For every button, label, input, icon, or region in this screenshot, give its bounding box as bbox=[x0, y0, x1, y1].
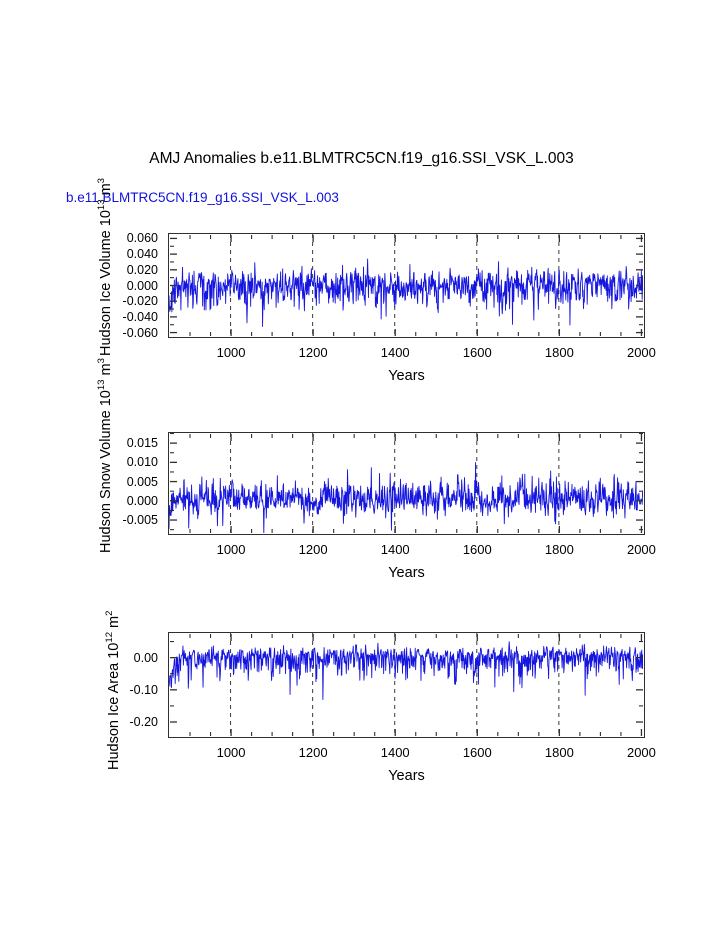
x-tick-label: 1800 bbox=[545, 746, 574, 759]
x-tick-label: 1800 bbox=[545, 346, 574, 359]
y-axis-title-ice-volume: Hudson Ice Volume 1013 m3 bbox=[96, 178, 114, 356]
x-tick-label: 1200 bbox=[299, 746, 328, 759]
y-tick-label: -0.20 bbox=[0, 716, 158, 729]
y-tick-label: -0.060 bbox=[0, 326, 158, 339]
y-axis-title-text: Hudson Ice Area 10 bbox=[106, 643, 122, 770]
plot-frame-snow-volume bbox=[168, 432, 645, 535]
y-axis-title-exponent: 13 bbox=[96, 199, 107, 210]
y-tick-label: 0.005 bbox=[0, 475, 158, 488]
x-axis-title-snow-volume: Years bbox=[168, 565, 645, 581]
y-tick-label: 0.020 bbox=[0, 264, 158, 277]
x-tick-label: 1600 bbox=[463, 746, 492, 759]
plot-frame-ice-area bbox=[168, 632, 645, 738]
plot-frame-ice-volume bbox=[168, 233, 645, 338]
y-tick-label: 0.060 bbox=[0, 232, 158, 245]
y-tick-label: -0.020 bbox=[0, 295, 158, 308]
x-tick-label: 1000 bbox=[217, 346, 246, 359]
y-axis-title-text: m bbox=[106, 616, 122, 632]
series-snow-volume bbox=[169, 433, 643, 533]
y-axis-title-exponent: 13 bbox=[96, 380, 107, 391]
y-axis-title-text: m bbox=[98, 183, 114, 199]
x-tick-label: 2000 bbox=[627, 543, 656, 556]
series-ice-area bbox=[169, 633, 643, 736]
x-tick-label: 1600 bbox=[463, 543, 492, 556]
y-tick-label: -0.005 bbox=[0, 514, 158, 527]
x-tick-label: 1000 bbox=[217, 746, 246, 759]
x-tick-label: 1400 bbox=[381, 543, 410, 556]
y-axis-title-exponent: 2 bbox=[104, 611, 115, 616]
y-axis-title-exponent: 3 bbox=[96, 358, 107, 363]
x-tick-label: 1200 bbox=[299, 543, 328, 556]
y-tick-label: 0.000 bbox=[0, 279, 158, 292]
y-tick-label: 0.000 bbox=[0, 495, 158, 508]
y-axis-title-snow-volume: Hudson Snow Volume 1013 m3 bbox=[96, 358, 114, 553]
x-tick-label: 1400 bbox=[381, 746, 410, 759]
y-tick-label: -0.040 bbox=[0, 311, 158, 324]
x-tick-label: 1400 bbox=[381, 346, 410, 359]
x-tick-label: 1200 bbox=[299, 346, 328, 359]
x-axis-title-ice-volume: Years bbox=[168, 368, 645, 384]
y-tick-label: 0.010 bbox=[0, 456, 158, 469]
y-axis-title-text: Hudson Ice Volume 10 bbox=[98, 210, 114, 356]
y-tick-label: 0.00 bbox=[0, 651, 158, 664]
series-ice-volume bbox=[169, 234, 643, 336]
page-title: AMJ Anomalies b.e11.BLMTRC5CN.f19_g16.SS… bbox=[0, 150, 723, 168]
y-tick-label: 0.015 bbox=[0, 437, 158, 450]
y-axis-title-ice-area: Hudson Ice Area 1012 m2 bbox=[104, 611, 122, 770]
x-tick-label: 1600 bbox=[463, 346, 492, 359]
y-axis-title-text: m bbox=[98, 363, 114, 379]
y-tick-label: 0.040 bbox=[0, 248, 158, 261]
x-tick-label: 1800 bbox=[545, 543, 574, 556]
x-tick-label: 1000 bbox=[217, 543, 246, 556]
y-axis-title-text: Hudson Snow Volume 10 bbox=[98, 390, 114, 553]
x-tick-label: 2000 bbox=[627, 346, 656, 359]
y-axis-title-exponent: 12 bbox=[104, 632, 115, 643]
x-tick-label: 2000 bbox=[627, 746, 656, 759]
x-axis-title-ice-area: Years bbox=[168, 768, 645, 784]
y-axis-title-exponent: 3 bbox=[96, 178, 107, 183]
y-tick-label: -0.10 bbox=[0, 684, 158, 697]
